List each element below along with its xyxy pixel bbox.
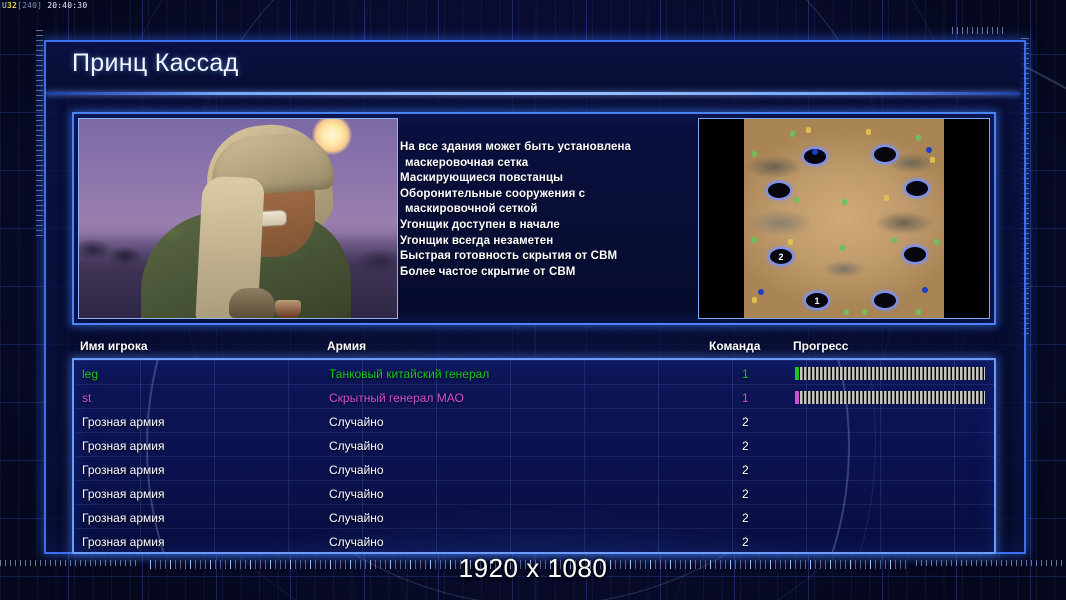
player-progress-cell: [795, 367, 985, 380]
minimap-image: 21: [744, 119, 944, 318]
minimap-supply-marker: [752, 237, 757, 243]
status-bracket: [240]: [17, 1, 42, 10]
ruler-strip-top-right: [952, 27, 1004, 34]
player-row[interactable]: legТанковый китайский генерал1: [74, 364, 994, 388]
player-army: Случайно: [329, 439, 384, 453]
player-team: 2: [742, 439, 749, 453]
description-line: маскеровочная сетка: [400, 156, 700, 172]
player-team: 1: [742, 391, 749, 405]
player-army: Случайно: [329, 535, 384, 549]
player-progress-cell: [795, 391, 985, 404]
player-name: Грозная армия: [82, 511, 164, 525]
portrait-teapot: [229, 288, 275, 318]
column-header-army: Армия: [327, 339, 366, 353]
minimap-supply-marker: [794, 197, 799, 203]
minimap-structure-dot: [922, 287, 928, 293]
minimap-start-position: [872, 291, 898, 310]
minimap-structure-dot: [758, 289, 764, 295]
minimap-supply-marker: [844, 309, 849, 315]
progress-bar: [795, 391, 985, 404]
description-line: Угонщик доступен в начале: [400, 218, 700, 234]
portrait-frame: [78, 118, 398, 319]
minimap-supply-marker: [930, 157, 935, 163]
general-portrait-image: [79, 119, 397, 318]
player-row[interactable]: Грозная армияСлучайно2: [74, 460, 994, 484]
minimap-supply-marker: [934, 239, 939, 245]
player-team: 2: [742, 415, 749, 429]
title-underline: [46, 92, 1020, 95]
player-row[interactable]: Грозная армияСлучайно2: [74, 436, 994, 460]
player-team: 2: [742, 463, 749, 477]
description-line: Более частое скрытие от СВМ: [400, 265, 700, 281]
progress-bar: [795, 367, 985, 380]
minimap-supply-marker: [862, 309, 867, 315]
description-line: Угонщик всегда незаметен: [400, 234, 700, 250]
description-line: Оборонительные сооружения с: [400, 187, 700, 203]
description-line: На все здания может быть установлена: [400, 140, 700, 156]
description-line: Маскирующиеся повстанцы: [400, 171, 700, 187]
portrait-cup: [275, 300, 301, 318]
player-name: Грозная армия: [82, 535, 164, 549]
status-bar: U32[240] 20:40:30: [2, 1, 87, 10]
player-team: 2: [742, 487, 749, 501]
player-name: Грозная армия: [82, 487, 164, 501]
minimap-supply-marker: [752, 297, 757, 303]
column-header-player-name: Имя игрока: [80, 339, 148, 353]
player-row[interactable]: Грозная армияСлучайно2: [74, 412, 994, 436]
minimap-supply-marker: [884, 195, 889, 201]
progress-bar-cap: [795, 391, 799, 404]
player-army: Случайно: [329, 415, 384, 429]
minimap-supply-marker: [866, 129, 871, 135]
player-army: Случайно: [329, 463, 384, 477]
minimap-start-position: [766, 181, 792, 200]
player-name: Грозная армия: [82, 463, 164, 477]
progress-bar-fill: [795, 367, 985, 380]
minimap-structure-dot: [812, 149, 818, 155]
player-list-panel: legТанковый китайский генерал1stСкрытный…: [72, 358, 996, 554]
player-team: 2: [742, 535, 749, 549]
description-line: маскировочной сеткой: [400, 202, 700, 218]
minimap-supply-marker: [806, 127, 811, 133]
column-header-progress: Прогресс: [793, 339, 848, 353]
player-name: st: [82, 391, 91, 405]
minimap-supply-marker: [790, 131, 795, 137]
minimap-supply-marker: [788, 239, 793, 245]
minimap-start-position: [872, 145, 898, 164]
minimap-supply-marker: [840, 245, 845, 251]
minimap-supply-marker: [842, 199, 847, 205]
player-team: 2: [742, 511, 749, 525]
minimap-start-position: [902, 245, 928, 264]
player-name: Грозная армия: [82, 415, 164, 429]
description-line: Быстрая готовность скрытия от СВМ: [400, 249, 700, 265]
player-row[interactable]: Грозная армияСлучайно2: [74, 508, 994, 532]
minimap-start-position: 1: [804, 291, 830, 310]
column-header-team: Команда: [709, 339, 760, 353]
player-row[interactable]: Грозная армияСлучайно2: [74, 532, 994, 554]
minimap-structure-dot: [926, 147, 932, 153]
player-row[interactable]: Грозная армияСлучайно2: [74, 484, 994, 508]
minimap-supply-marker: [892, 237, 897, 243]
minimap-supply-marker: [916, 135, 921, 141]
player-rows: legТанковый китайский генерал1stСкрытный…: [74, 360, 994, 552]
player-army: Скрытный генерал МАО: [329, 391, 464, 405]
player-row[interactable]: stСкрытный генерал МАО1: [74, 388, 994, 412]
player-army: Случайно: [329, 511, 384, 525]
table-header-row: Имя игрока Армия Команда Прогресс: [72, 339, 992, 356]
resolution-overlay: 1920 x 1080: [0, 553, 1066, 584]
player-team: 1: [742, 367, 749, 381]
minimap-supply-marker: [916, 309, 921, 315]
status-time: 20:40:30: [47, 1, 87, 10]
minimap-start-position: 2: [768, 247, 794, 266]
status-fps: 32: [7, 1, 17, 10]
player-army: Танковый китайский генерал: [329, 367, 489, 381]
general-info-panel: На все здания может быть установленамаск…: [72, 112, 996, 325]
minimap-frame: 21: [698, 118, 990, 319]
ruler-strip-left: [36, 30, 43, 240]
minimap-supply-marker: [752, 151, 757, 157]
minimap-start-position: [904, 179, 930, 198]
player-army: Случайно: [329, 487, 384, 501]
player-name: leg: [82, 367, 98, 381]
general-description: На все здания может быть установленамаск…: [400, 140, 700, 280]
page-title: Принц Кассад: [72, 49, 238, 78]
game-screen: U32[240] 20:40:30 Принц Кассад: [0, 0, 1066, 600]
progress-bar-fill: [795, 391, 985, 404]
progress-bar-cap: [795, 367, 799, 380]
player-name: Грозная армия: [82, 439, 164, 453]
